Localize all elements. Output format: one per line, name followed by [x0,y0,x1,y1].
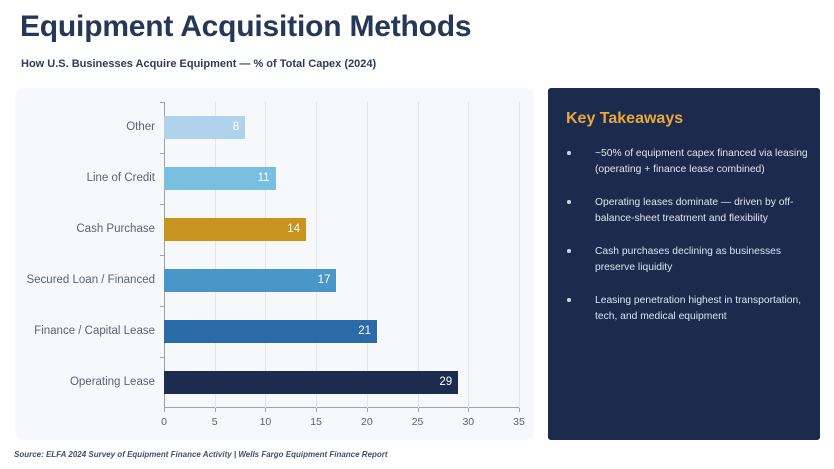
category-label: Operating Lease [70,371,155,394]
bar-chart-plot: 05101520253035Other8Line of Credit11Cash… [164,102,519,408]
category-label: Finance / Capital Lease [34,320,155,343]
x-tick-mark [519,408,520,412]
bar-value-label: 21 [353,320,371,343]
y-tick-mark [160,153,164,154]
takeaway-item: Operating leases dominate — driven by of… [562,195,808,226]
bullet-dot-icon [567,298,571,302]
bar-value-label: 14 [282,218,300,241]
x-tick-label: 25 [412,416,424,428]
takeaway-list: ~50% of equipment capex financed via lea… [562,146,808,342]
x-gridline [519,102,520,408]
panel-title: Key Takeaways [566,110,683,128]
bar-value-label: 11 [252,167,270,190]
y-tick-mark [160,255,164,256]
takeaway-text: Leasing penetration highest in transport… [595,295,801,322]
y-tick-mark [160,306,164,307]
x-tick-mark [215,408,216,412]
takeaway-text: Cash purchases declining as businesses p… [595,246,781,273]
y-tick-mark [160,204,164,205]
x-tick-mark [316,408,317,412]
takeaway-item: ~50% of equipment capex financed via lea… [562,146,808,177]
y-tick-mark [160,102,164,103]
bar-row: Finance / Capital Lease21 [164,306,519,357]
category-label: Secured Loan / Financed [26,269,155,292]
takeaway-text: ~50% of equipment capex financed via lea… [595,148,808,175]
bar-row: Operating Lease29 [164,357,519,408]
bar[interactable] [164,320,377,343]
bullet-dot-icon [567,249,571,253]
x-tick-mark [265,408,266,412]
x-tick-label: 5 [212,416,218,428]
bar-value-label: 17 [312,269,330,292]
page-subtitle: How U.S. Businesses Acquire Equipment — … [21,58,376,70]
x-tick-label: 15 [310,416,322,428]
bar-row: Secured Loan / Financed17 [164,255,519,306]
x-tick-mark [367,408,368,412]
x-tick-mark [164,408,165,412]
bar-row: Line of Credit11 [164,153,519,204]
key-takeaways-panel: Key Takeaways ~50% of equipment capex fi… [548,88,820,440]
x-tick-label: 10 [260,416,272,428]
bar-row: Cash Purchase14 [164,204,519,255]
x-tick-mark [468,408,469,412]
category-label: Cash Purchase [76,218,155,241]
category-label: Other [126,116,155,139]
y-tick-mark [160,357,164,358]
x-tick-mark [418,408,419,412]
bar[interactable] [164,371,458,394]
bar-value-label: 8 [221,116,239,139]
takeaway-text: Operating leases dominate — driven by of… [595,197,793,224]
bar[interactable] [164,269,336,292]
x-tick-label: 30 [462,416,474,428]
takeaway-item: Leasing penetration highest in transport… [562,293,808,324]
x-tick-label: 0 [161,416,167,428]
bar-value-label: 29 [434,371,452,394]
bar-row: Other8 [164,102,519,153]
slide: Equipment Acquisition Methods How U.S. B… [0,0,834,469]
x-tick-label: 35 [513,416,525,428]
bullet-dot-icon [567,151,571,155]
source-note: Source: ELFA 2024 Survey of Equipment Fi… [14,450,388,459]
chart-card: 05101520253035Other8Line of Credit11Cash… [15,88,534,440]
page-title: Equipment Acquisition Methods [20,10,471,44]
takeaway-item: Cash purchases declining as businesses p… [562,244,808,275]
bullet-dot-icon [567,200,571,204]
x-tick-label: 20 [361,416,373,428]
category-label: Line of Credit [87,167,155,190]
